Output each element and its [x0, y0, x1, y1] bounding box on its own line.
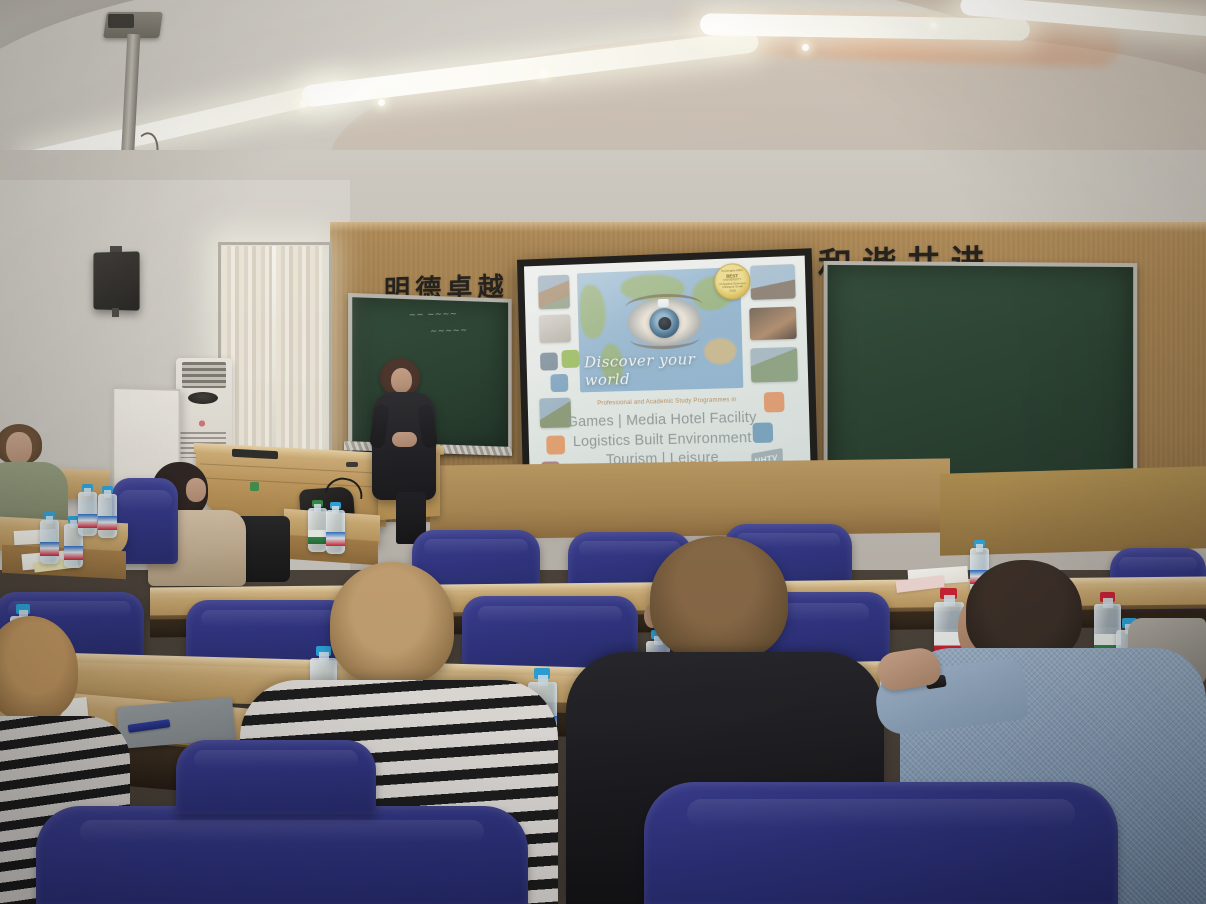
award-seal-icon: Keuzegids HBO BEST UNIVERSITY of Applied… [714, 263, 751, 301]
bottle-label [326, 532, 345, 546]
chalk-writing: ~~~~~ [430, 326, 468, 337]
attendee-left-face [6, 432, 32, 464]
front-wall-wood [430, 458, 950, 539]
ac-grille [182, 362, 226, 388]
chair [644, 782, 1118, 904]
slide-accent-square [561, 350, 579, 368]
projector-mount-shadow [108, 14, 134, 28]
window-frame [218, 242, 332, 462]
slide-accent-square [540, 352, 558, 370]
water-bottle [98, 486, 117, 538]
water-bottle [78, 484, 97, 536]
bottle-label [78, 514, 97, 528]
slide-thumbnail-landscape [750, 347, 798, 383]
attendee-beige-face [186, 478, 206, 502]
ac-decal [196, 418, 208, 429]
presenter-face [391, 368, 412, 393]
water-bottle [308, 500, 327, 552]
slide-thumbnail-village [538, 275, 570, 310]
bottle-label [308, 530, 327, 544]
slide-accent-square [550, 374, 568, 392]
chair [36, 806, 528, 904]
chair [176, 740, 376, 814]
green-sticker [250, 482, 259, 491]
chalk-writing: ~~ ~~~~ [408, 309, 457, 320]
slide-thumbnail-people [539, 314, 571, 343]
ceiling-downlight [378, 99, 385, 106]
wood-panel-highlight [330, 222, 1206, 232]
seal-line-6: 2016 [729, 290, 736, 294]
slide-headline: Discover your world [584, 349, 740, 390]
water-bottle [326, 502, 345, 554]
slide-subtitle: Professional and Academic Study Programm… [573, 396, 762, 407]
bottle-label [40, 542, 59, 556]
bottle-label [64, 546, 83, 560]
presenter-hands [392, 432, 417, 447]
bottle-label [98, 516, 117, 530]
ceiling-downlight [802, 44, 809, 51]
water-bottle [40, 512, 59, 564]
ceiling-downlight [300, 100, 307, 107]
student-striped-hair [330, 562, 454, 684]
world-map-landmass [579, 284, 606, 339]
slide-thumbnail-interior [749, 307, 797, 341]
ac-vent [188, 392, 218, 404]
ceiling-downlight [540, 70, 547, 77]
speaker-bracket [112, 308, 119, 317]
desk-item [346, 462, 358, 467]
eye-lower-lid [630, 327, 700, 350]
student-dark-hair [650, 536, 788, 662]
slide-thumbnail-ferris-wheel [750, 264, 796, 300]
wall-speaker [93, 251, 139, 310]
ceiling-downlight [930, 22, 937, 29]
lecture-hall-photo: 明德卓越 和谐共进 ~~ ~~~~ ~~~~~ [0, 0, 1206, 904]
